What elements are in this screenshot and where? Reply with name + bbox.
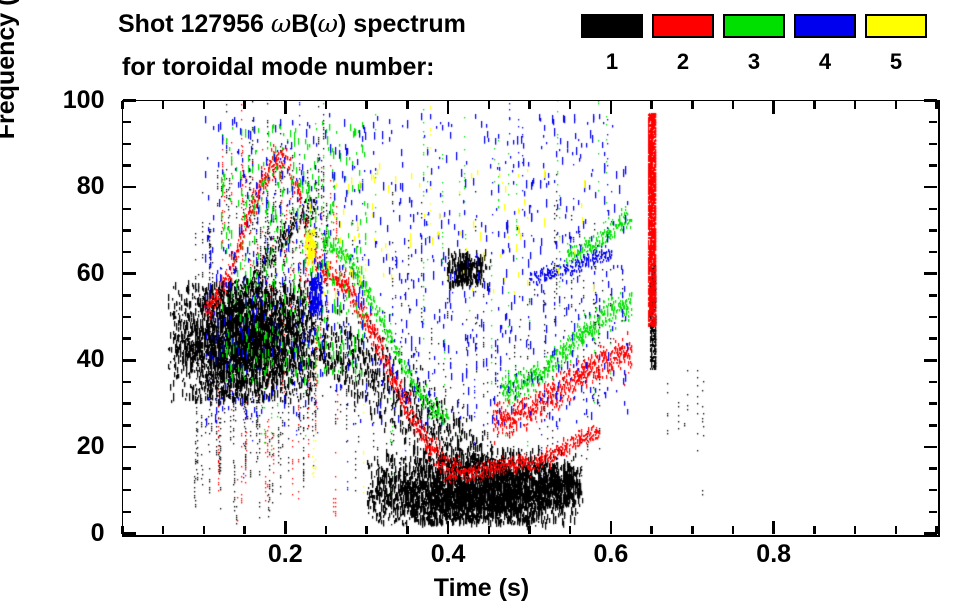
x-tick-top-0.65 xyxy=(650,101,653,109)
x-tick-top-0.05 xyxy=(162,101,165,109)
y-tick-right-40 xyxy=(924,359,937,362)
y-tick-50 xyxy=(123,316,131,319)
x-tick-0.85 xyxy=(813,526,816,534)
y-tick-90 xyxy=(123,143,131,146)
title-suffix: ) spectrum xyxy=(338,10,466,38)
legend-entry-3[interactable]: 3 xyxy=(723,14,785,73)
legend-swatch-3 xyxy=(723,14,785,38)
y-tick-right-55 xyxy=(929,294,937,297)
y-tick-80 xyxy=(123,186,136,189)
x-tick-1 xyxy=(935,526,938,534)
legend-entry-2[interactable]: 2 xyxy=(652,14,714,73)
y-tick-right-50 xyxy=(929,316,937,319)
y-tick-10 xyxy=(123,489,131,492)
x-tick-0.75 xyxy=(732,526,735,534)
title-prefix: Shot 127956 xyxy=(118,10,271,38)
title-mid: B( xyxy=(291,10,317,38)
x-tick-0.95 xyxy=(895,526,898,534)
legend-swatch-4 xyxy=(794,14,856,38)
y-tick-40 xyxy=(123,359,136,362)
legend-label-3: 3 xyxy=(723,51,785,73)
y-tick-label-20: 20 xyxy=(0,434,105,459)
x-tick-top-0.5 xyxy=(528,101,531,109)
x-axis-title: Time (s) xyxy=(0,574,963,603)
x-tick-top-0.95 xyxy=(895,101,898,109)
y-tick-15 xyxy=(123,467,131,470)
y-tick-right-90 xyxy=(929,143,937,146)
x-tick-0 xyxy=(121,526,124,534)
y-tick-right-80 xyxy=(924,186,937,189)
x-tick-label-0.6: 0.6 xyxy=(551,542,671,567)
y-tick-35 xyxy=(123,381,131,384)
x-tick-0.1 xyxy=(203,526,206,534)
y-tick-20 xyxy=(123,446,136,449)
y-tick-right-60 xyxy=(924,272,937,275)
x-tick-label-0.4: 0.4 xyxy=(388,542,508,567)
legend-swatch-1 xyxy=(581,14,643,38)
y-tick-right-10 xyxy=(929,489,937,492)
x-tick-0.55 xyxy=(569,526,572,534)
x-tick-0.8 xyxy=(772,521,775,534)
x-tick-top-0.6 xyxy=(610,101,613,114)
x-tick-0.15 xyxy=(243,526,246,534)
y-tick-30 xyxy=(123,402,131,405)
x-tick-0.25 xyxy=(325,526,328,534)
y-tick-label-40: 40 xyxy=(0,347,105,372)
y-tick-right-75 xyxy=(929,208,937,211)
y-axis-title: Frequency (kHz) xyxy=(0,0,21,182)
x-tick-0.05 xyxy=(162,526,165,534)
legend-label-5: 5 xyxy=(865,51,927,73)
y-tick-45 xyxy=(123,337,131,340)
y-tick-0 xyxy=(123,532,136,535)
y-tick-label-0: 0 xyxy=(0,521,105,546)
x-tick-top-0.2 xyxy=(284,101,287,114)
x-tick-top-0.55 xyxy=(569,101,572,109)
x-tick-top-0.1 xyxy=(203,101,206,109)
omega-symbol-1: ω xyxy=(271,9,291,38)
x-tick-0.35 xyxy=(406,526,409,534)
x-tick-0.5 xyxy=(528,526,531,534)
x-tick-top-0.7 xyxy=(691,101,694,109)
y-tick-55 xyxy=(123,294,131,297)
x-tick-top-0.9 xyxy=(854,101,857,109)
legend-entry-5[interactable]: 5 xyxy=(865,14,927,73)
x-tick-top-0.45 xyxy=(488,101,491,109)
y-tick-right-20 xyxy=(924,446,937,449)
x-tick-0.9 xyxy=(854,526,857,534)
spectrogram-figure: Shot 127956 ωB(ω) spectrum for toroidal … xyxy=(0,0,963,615)
y-tick-95 xyxy=(123,121,131,124)
y-tick-right-5 xyxy=(929,511,937,514)
legend-label-4: 4 xyxy=(794,51,856,73)
spectrogram-plot-area xyxy=(123,101,936,533)
legend-entry-1[interactable]: 1 xyxy=(581,14,643,73)
y-tick-75 xyxy=(123,208,131,211)
y-tick-25 xyxy=(123,424,131,427)
y-tick-label-60: 60 xyxy=(0,261,105,286)
x-tick-0.4 xyxy=(447,521,450,534)
y-tick-65 xyxy=(123,251,131,254)
x-tick-top-0.35 xyxy=(406,101,409,109)
page-title: Shot 127956 ωB(ω) spectrum xyxy=(118,9,466,39)
y-tick-right-30 xyxy=(929,402,937,405)
x-tick-top-0.25 xyxy=(325,101,328,109)
y-tick-right-25 xyxy=(929,424,937,427)
x-tick-top-0.3 xyxy=(365,101,368,109)
x-tick-top-0.8 xyxy=(772,101,775,114)
legend-swatch-2 xyxy=(652,14,714,38)
x-tick-0.2 xyxy=(284,521,287,534)
omega-symbol-2: ω xyxy=(318,9,338,38)
y-tick-right-70 xyxy=(929,229,937,232)
y-tick-85 xyxy=(123,164,131,167)
x-tick-label-0.2: 0.2 xyxy=(225,542,345,567)
y-tick-5 xyxy=(123,511,131,514)
x-tick-top-0.75 xyxy=(732,101,735,109)
x-tick-0.45 xyxy=(488,526,491,534)
y-tick-100 xyxy=(123,99,136,102)
legend: 12345 xyxy=(581,14,929,92)
y-tick-right-45 xyxy=(929,337,937,340)
x-tick-0.6 xyxy=(610,521,613,534)
legend-label-2: 2 xyxy=(652,51,714,73)
y-tick-right-65 xyxy=(929,251,937,254)
y-tick-70 xyxy=(123,229,131,232)
x-tick-0.65 xyxy=(650,526,653,534)
y-tick-right-15 xyxy=(929,467,937,470)
x-tick-top-0 xyxy=(121,101,124,109)
legend-label-1: 1 xyxy=(581,51,643,73)
x-tick-0.3 xyxy=(365,526,368,534)
legend-swatch-5 xyxy=(865,14,927,38)
y-tick-right-95 xyxy=(929,121,937,124)
x-tick-top-0.15 xyxy=(243,101,246,109)
x-tick-top-0.85 xyxy=(813,101,816,109)
x-tick-top-0.4 xyxy=(447,101,450,114)
y-tick-right-35 xyxy=(929,381,937,384)
x-tick-0.7 xyxy=(691,526,694,534)
y-tick-60 xyxy=(123,272,136,275)
legend-entry-4[interactable]: 4 xyxy=(794,14,856,73)
x-tick-label-0.8: 0.8 xyxy=(714,542,834,567)
x-tick-top-1 xyxy=(935,101,938,109)
y-tick-right-85 xyxy=(929,164,937,167)
page-subtitle: for toroidal mode number: xyxy=(122,53,435,82)
